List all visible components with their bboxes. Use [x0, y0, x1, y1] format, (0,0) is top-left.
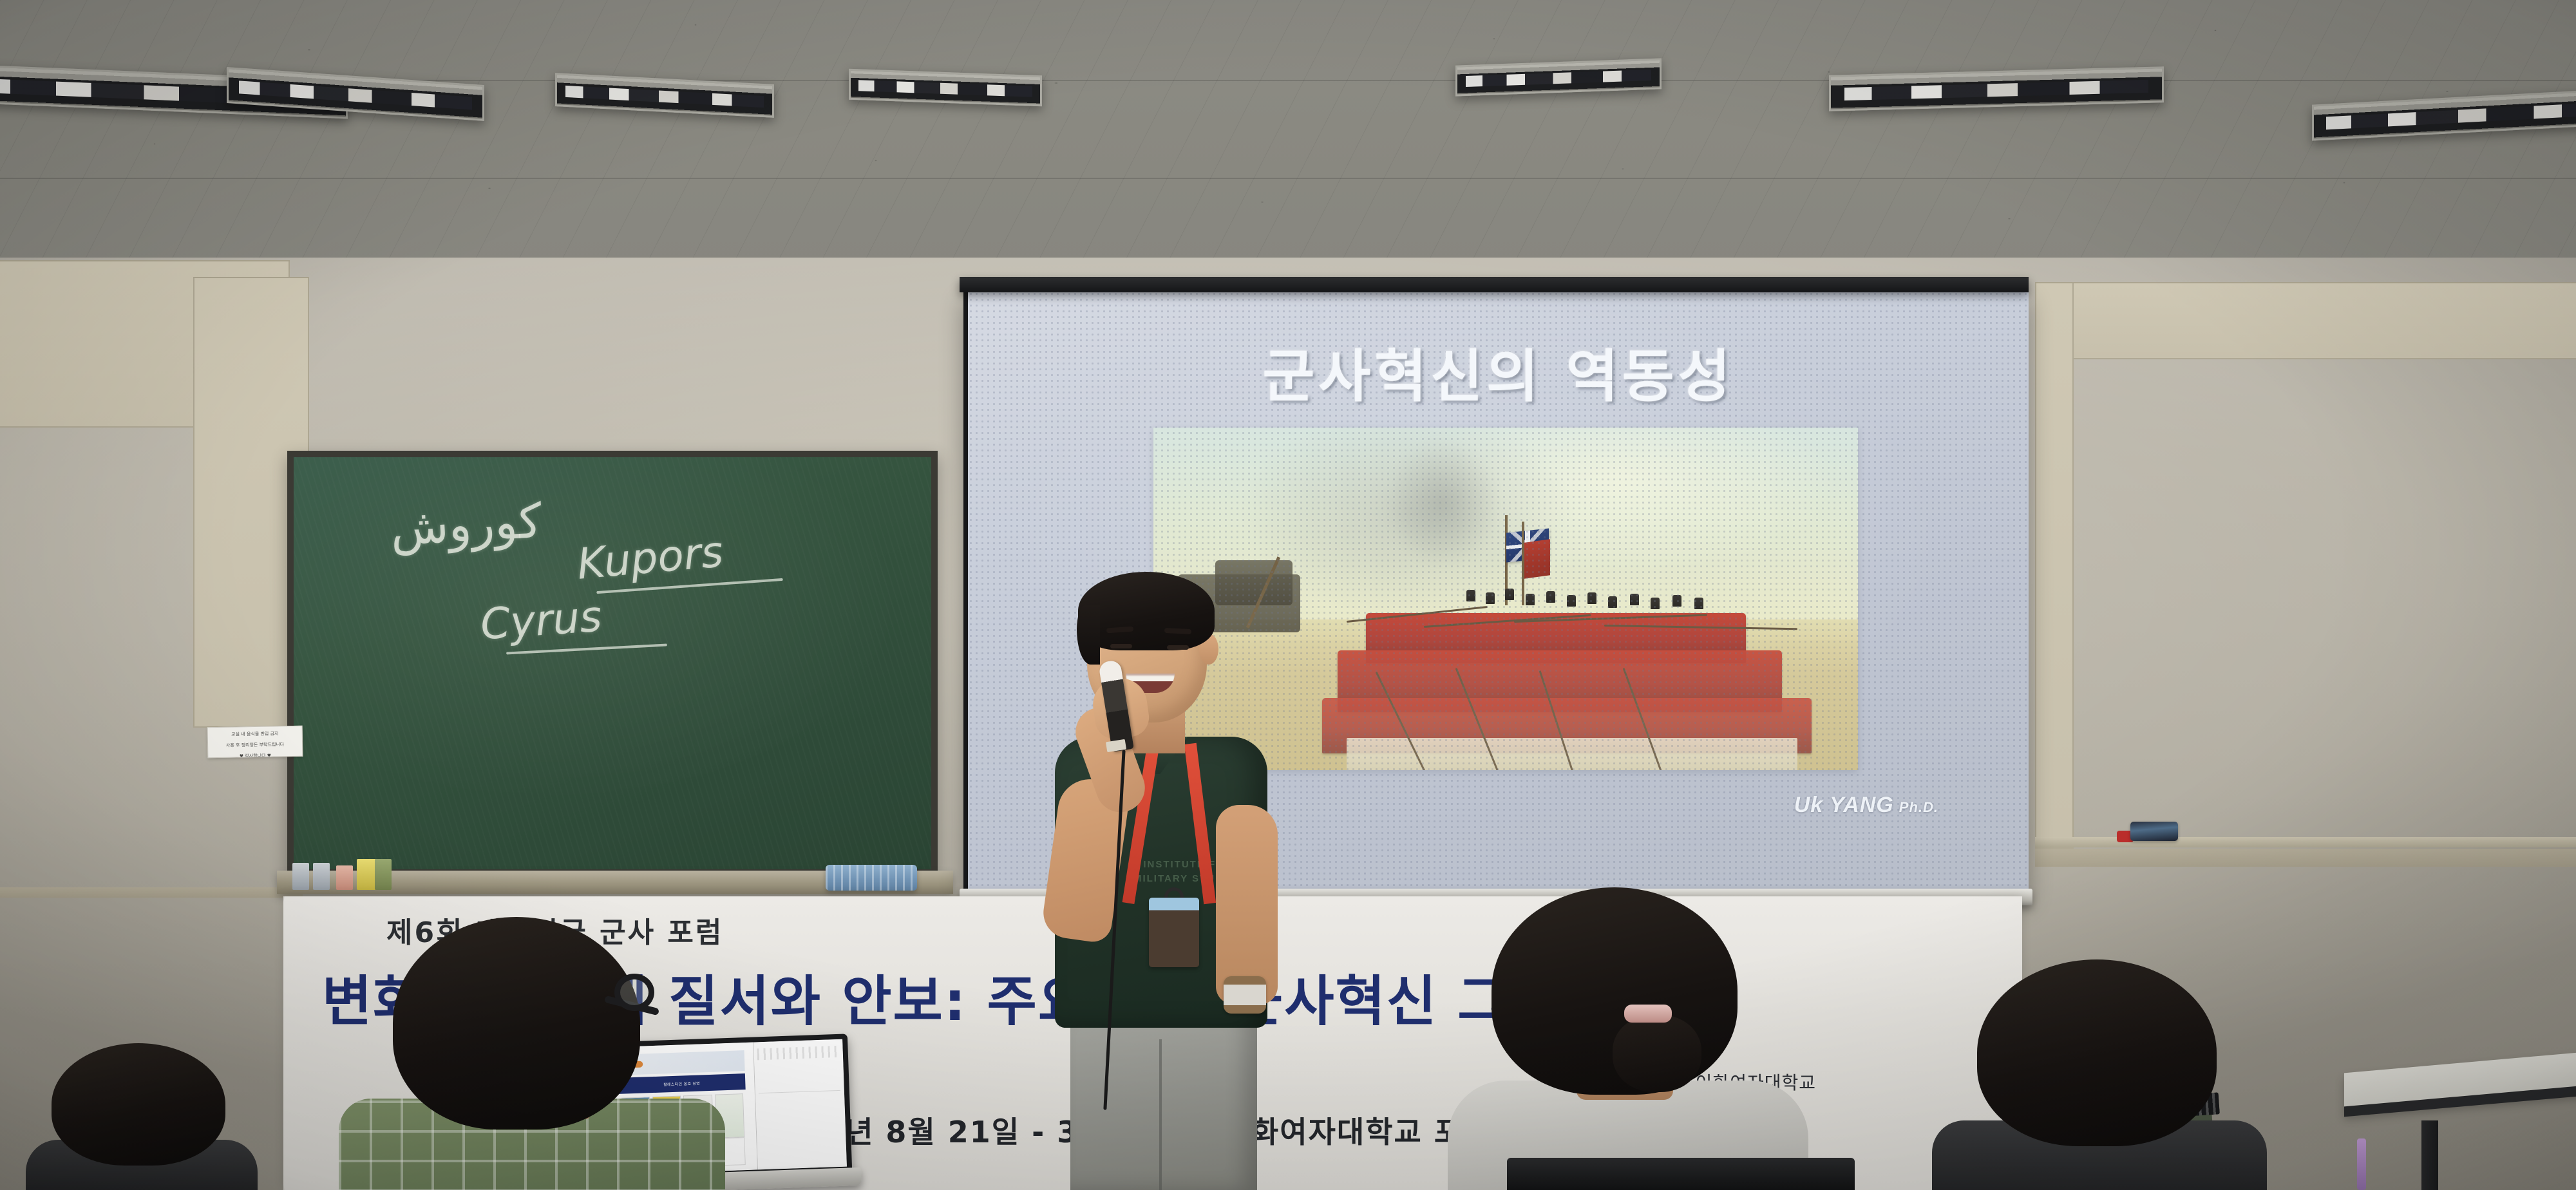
speaker-eye-right [1167, 645, 1189, 650]
purple-object [2357, 1138, 2366, 1190]
ceiling-tile-texture [0, 0, 2576, 277]
speaker-trouser-seam [1159, 1039, 1162, 1190]
wall-trim-right [2035, 849, 2576, 867]
chalk-writing-name: Cyrus [479, 592, 603, 650]
fluorescent-tube [2326, 102, 2576, 130]
chalk-underline-1 [596, 578, 783, 594]
author-name: Uk YANG [1794, 793, 1894, 817]
chalk-tray [277, 871, 953, 894]
painting-soldier-shako [1651, 598, 1660, 609]
painting-soldier-shako [1608, 596, 1617, 608]
chalk-underline-2 [506, 643, 667, 654]
painting-soldier-shako [1587, 592, 1596, 604]
chalk-writing-arabic: کوروش [389, 493, 543, 556]
speaker-sideburn [1077, 605, 1100, 665]
ceiling [0, 0, 2576, 277]
blackboard-eraser [826, 865, 917, 891]
wall-panel-right-upper [2061, 282, 2576, 359]
fluorescent-tube [1844, 80, 2149, 100]
fluorescent-tube [565, 86, 763, 108]
painting-soldier-shako [1694, 598, 1703, 609]
laptop-toolbar-ribbon[interactable] [757, 1046, 840, 1060]
projector-screen-housing [960, 277, 2029, 292]
notice-line-3: ♥ 감사합니다 ♥ [208, 748, 302, 759]
attendee-hair [1977, 959, 2217, 1146]
speaker-trousers [1070, 1011, 1257, 1190]
fluorescent-tube [239, 80, 473, 109]
chalk-box-4 [357, 859, 376, 890]
painting-smoke-plume [1365, 428, 1520, 592]
speaker-wristwatch [1224, 976, 1266, 1014]
chalk-box-3 [336, 865, 353, 890]
fluorescent-tube [858, 80, 1033, 97]
laptop-notes-pane [753, 1039, 847, 1170]
fluorescent-tube [1466, 70, 1652, 87]
speaker-right-arm [1216, 805, 1278, 1005]
wall-panel-right-column [2035, 282, 2074, 849]
painting-soldier-shako [1505, 589, 1514, 600]
wall-ledge-right [2035, 837, 2576, 847]
painting-soldier-shako [1546, 591, 1555, 603]
painting-soldier-shako [1486, 592, 1495, 604]
chalk-box-1 [292, 863, 309, 890]
slide-author-credit: Uk YANGPh.D. [1794, 793, 1938, 818]
attendee-hair-tie [1624, 1005, 1672, 1023]
smartphone-on-ledge[interactable] [2130, 822, 2178, 841]
attendee-right [1958, 959, 2241, 1190]
painting-soldier-shako [1672, 595, 1681, 607]
attendee-ponytail [1613, 1015, 1701, 1092]
speaker-id-badge [1149, 898, 1199, 967]
wall-trim-left [0, 887, 303, 898]
chalk-box-2 [313, 863, 330, 890]
table-leg [2421, 1120, 2438, 1190]
painting-soldier-shako [1526, 594, 1535, 605]
attendee-hair [393, 917, 640, 1129]
slide-title: 군사혁신의 역동성 [968, 331, 2029, 413]
tablet-device[interactable] [1507, 1158, 1855, 1190]
painting-regimental-colour [1524, 539, 1550, 579]
painting-soldier-shako [1630, 594, 1639, 605]
attendee-front-left [358, 912, 719, 1190]
painting-soldier-shako [1567, 595, 1576, 607]
author-degree: Ph.D. [1899, 799, 1938, 815]
lecture-hall-photo: کوروش Kupors Cyrus 교실 내 음식물 반입 금지 사용 후 정… [0, 0, 2576, 1190]
speaker-eye-left [1110, 644, 1132, 648]
wall-notice-sign: 교실 내 음식물 반입 금지 사용 후 정리정돈 부탁드립니다 ♥ 감사합니다 … [207, 726, 303, 759]
laptop-notes-divider [759, 1090, 840, 1093]
chalkboard: کوروش Kupors Cyrus [294, 457, 931, 869]
attendee-far-left [26, 1043, 258, 1190]
chalk-writing-latin: Kupors [575, 527, 725, 589]
attendee-center [1461, 887, 1795, 1190]
chalkboard-frame: کوروش Kupors Cyrus [287, 451, 938, 876]
side-table [2344, 1061, 2576, 1190]
painting-soldier-shako [1466, 590, 1475, 601]
attendee-hair [52, 1043, 225, 1166]
speaker-presenter: INSTITUTE FOR MILITARY STUDIES [1038, 552, 1315, 1190]
chalk-box-5 [375, 859, 392, 890]
painting-white-trousers [1347, 738, 1797, 770]
glasses-icon [614, 974, 654, 1011]
